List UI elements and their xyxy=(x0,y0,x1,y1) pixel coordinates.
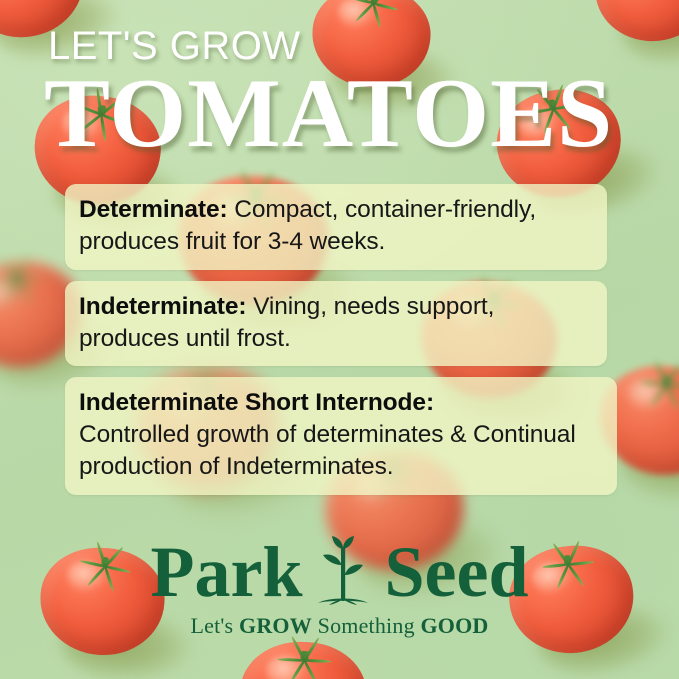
tagline-good: GOOD xyxy=(420,613,488,638)
headline-block: LET'S GROW TOMATOES xyxy=(44,26,644,159)
page-title: TOMATOES xyxy=(44,68,644,159)
card-description: Controlled growth of determinates & Cont… xyxy=(79,421,576,480)
info-card-indeterminate-short-internode: Indeterminate Short Internode:Controlled… xyxy=(65,377,617,495)
tagline-grow: GROW xyxy=(239,613,312,638)
card-term: Indeterminate Short Internode: xyxy=(79,389,434,416)
info-card-indeterminate: Indeterminate: Vining, needs support, pr… xyxy=(65,281,607,367)
card-term: Determinate: xyxy=(79,196,228,223)
info-card-list: Determinate: Compact, container-friendly… xyxy=(65,184,607,506)
tagline-part-2: Something xyxy=(312,613,421,638)
info-card-determinate: Determinate: Compact, container-friendly… xyxy=(65,184,607,270)
tomato-decoration xyxy=(238,640,368,679)
logo-word-seed: Seed xyxy=(384,536,528,608)
logo-word-park: Park xyxy=(151,536,303,608)
card-term: Indeterminate: xyxy=(79,293,246,320)
sprout-icon xyxy=(312,533,374,611)
tomato-info-poster: LET'S GROW TOMATOES Determinate: Compact… xyxy=(0,0,679,679)
brand-logo: Park Seed Let's GROW Something GOOD xyxy=(0,533,679,639)
logo-wordmark-row: Park Seed xyxy=(0,533,679,611)
brand-tagline: Let's GROW Something GOOD xyxy=(0,613,679,639)
tagline-part-1: Let's xyxy=(190,613,239,638)
